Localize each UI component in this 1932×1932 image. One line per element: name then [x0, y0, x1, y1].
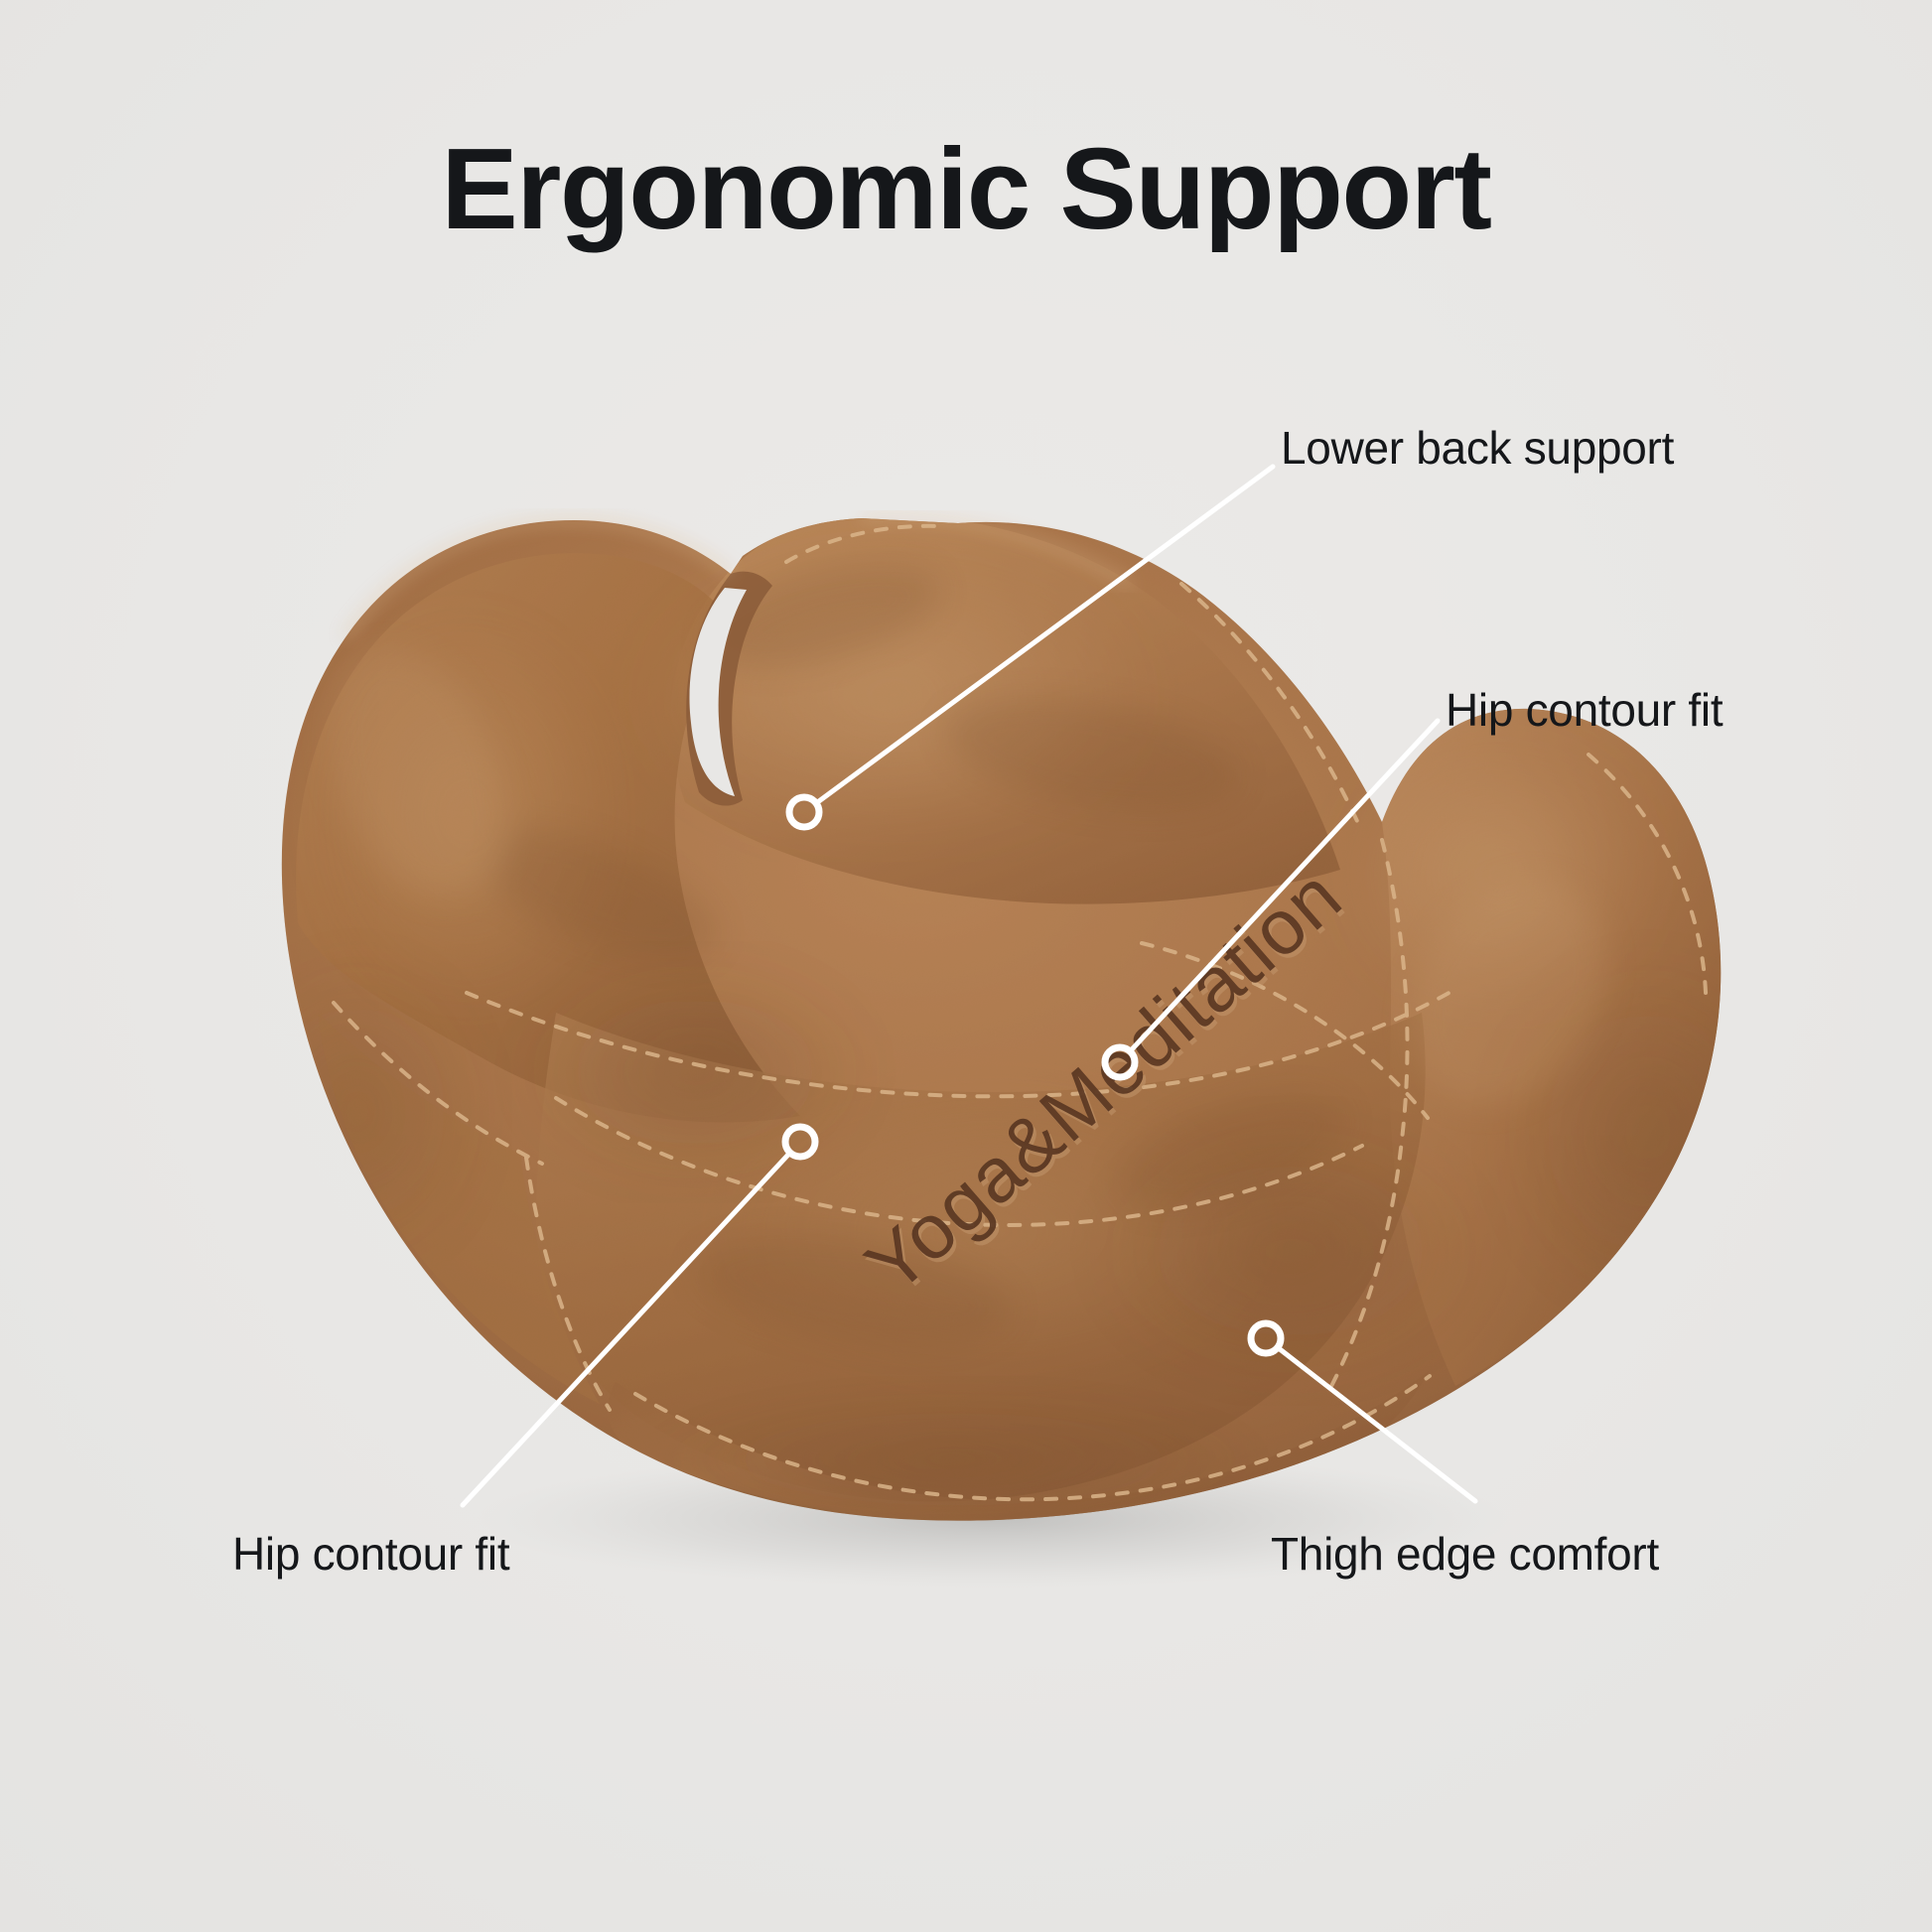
- callout-label-hip-contour-fit-left: Hip contour fit: [232, 1531, 509, 1577]
- infographic-canvas: Ergonomic Support: [0, 0, 1932, 1932]
- callout-label-thigh-edge-comfort: Thigh edge comfort: [1271, 1531, 1659, 1577]
- cushion-body: Yoga&Meditation Yoga&Meditation: [0, 0, 1932, 1932]
- callout-label-lower-back-support: Lower back support: [1281, 425, 1674, 471]
- product-illustration: Yoga&Meditation Yoga&Meditation: [0, 0, 1932, 1932]
- suede-texture: [0, 0, 1932, 1932]
- callout-label-hip-contour-fit-right: Hip contour fit: [1446, 687, 1723, 733]
